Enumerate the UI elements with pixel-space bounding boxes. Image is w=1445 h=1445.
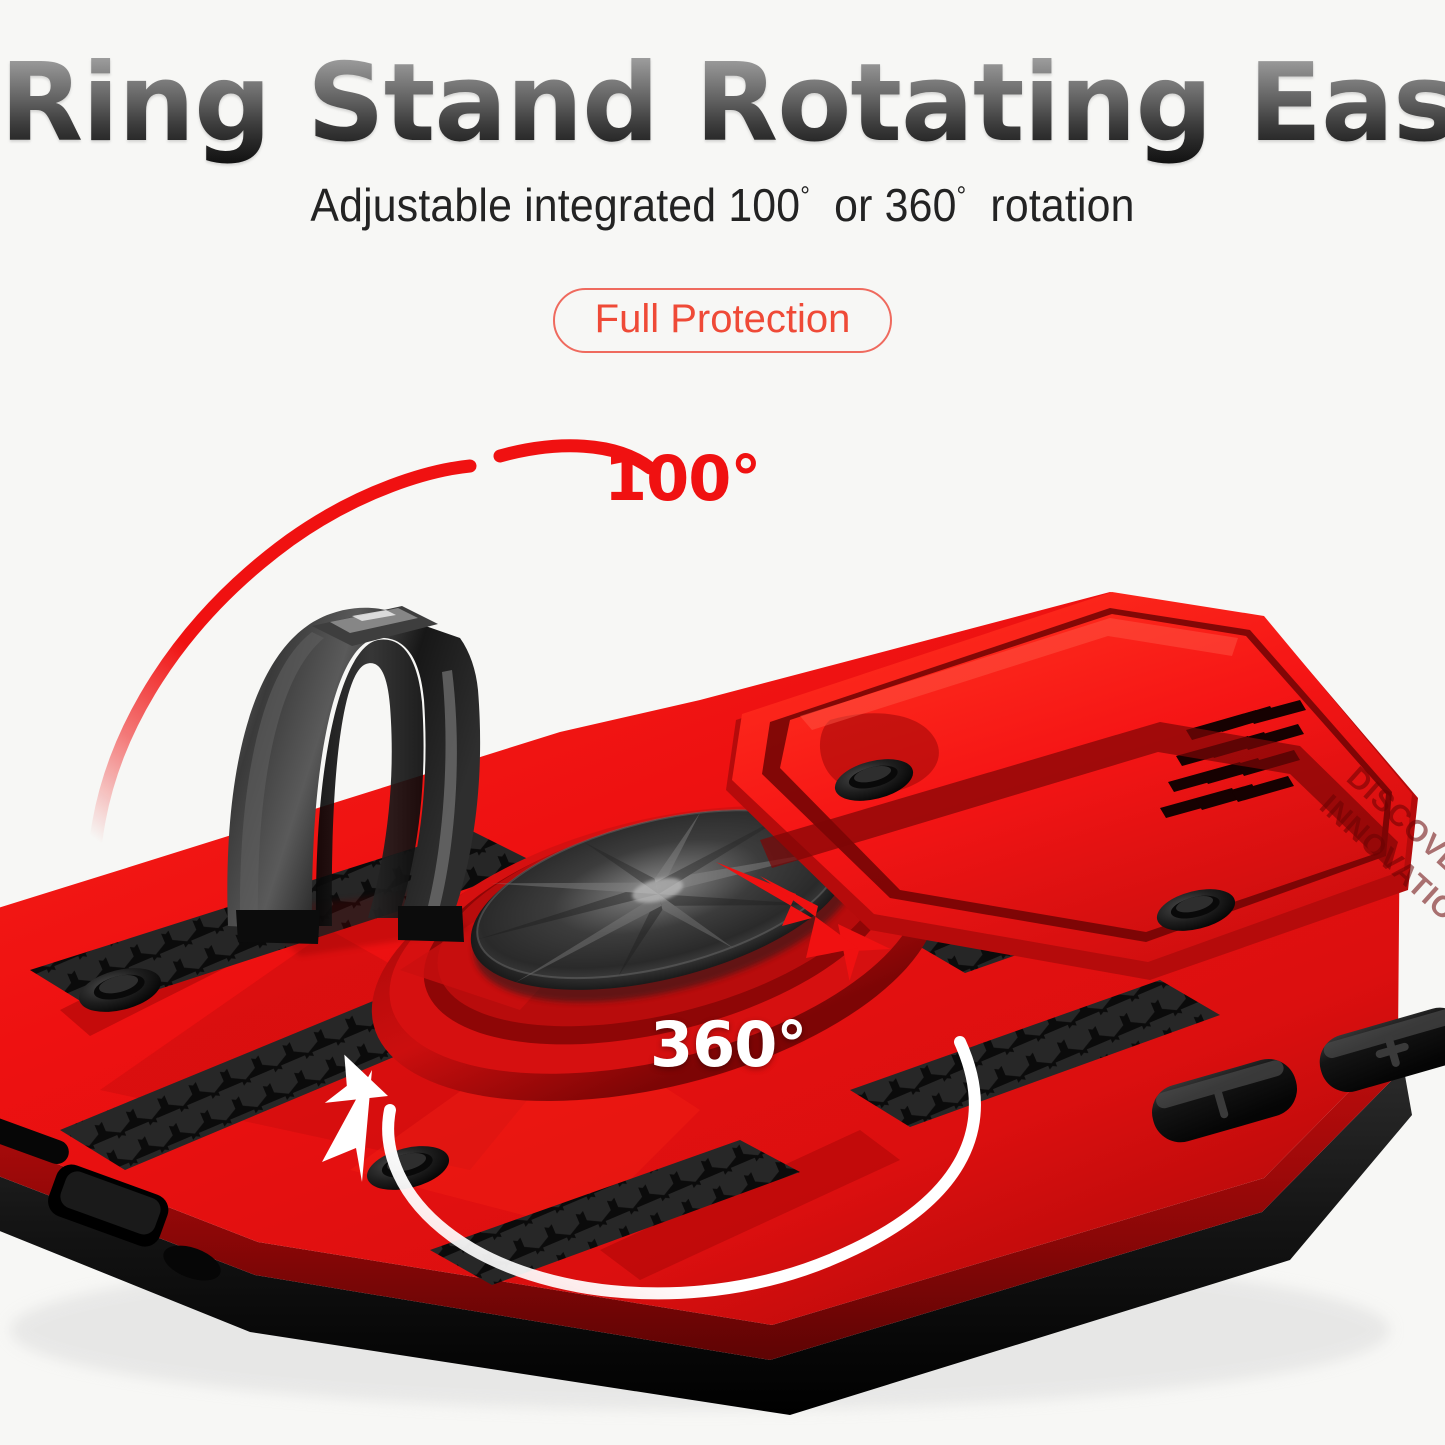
subtitle-prefix: Adjustable integrated 100	[310, 179, 800, 231]
badge-container: Full Protection	[0, 288, 1445, 353]
degree-symbol-360: °	[957, 181, 967, 211]
product-photo: DISCOVERY INNOVATION	[0, 370, 1445, 1445]
status-badge: Full Protection	[553, 288, 893, 353]
product-marketing-image: Ring Stand Rotating Easily Ring Stand Ro…	[0, 0, 1445, 1445]
degree-symbol-100: °	[800, 181, 810, 211]
subtitle-suffix: rotation	[990, 179, 1134, 231]
subtitle-middle: or 360	[834, 179, 956, 231]
page-subtitle: Adjustable integrated 100°or 360°rotatio…	[51, 178, 1395, 232]
page-title: Ring Stand Rotating Easily	[0, 44, 1445, 165]
